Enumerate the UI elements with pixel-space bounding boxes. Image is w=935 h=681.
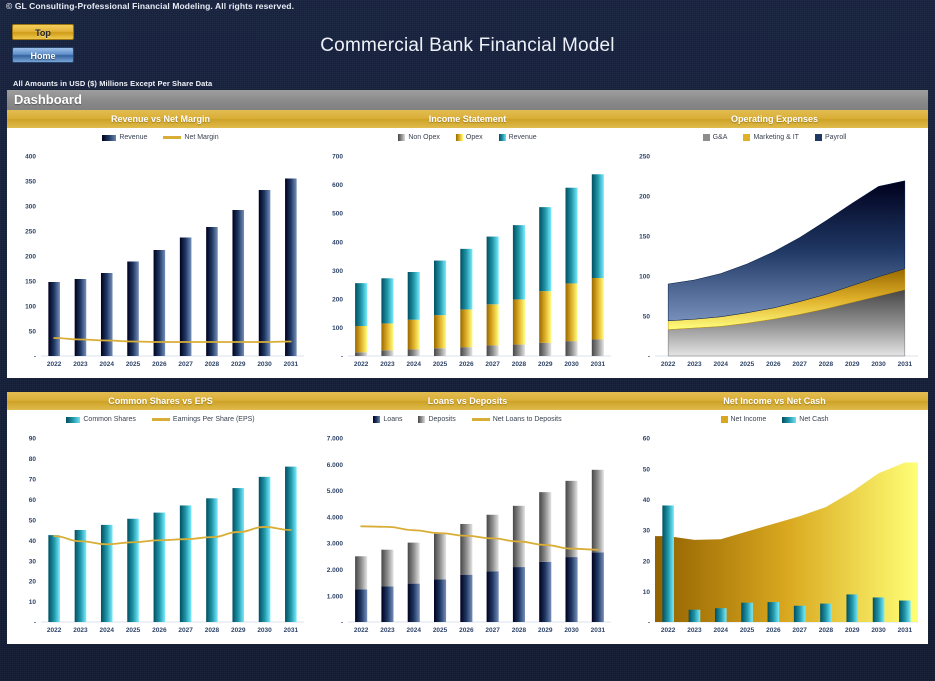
chart-net-income-net-cash[interactable]: -102030405060202220232024202520262027202… (621, 410, 928, 644)
svg-text:2031: 2031 (284, 627, 299, 634)
svg-text:2029: 2029 (538, 361, 553, 368)
svg-text:2022: 2022 (47, 627, 62, 634)
svg-text:2030: 2030 (257, 627, 272, 634)
svg-text:30: 30 (643, 528, 651, 535)
svg-text:2025: 2025 (740, 361, 755, 368)
legend-item[interactable]: Loans (373, 416, 402, 423)
svg-text:2028: 2028 (512, 627, 527, 634)
svg-text:2023: 2023 (687, 361, 702, 368)
svg-text:2.000: 2.000 (327, 567, 344, 574)
svg-text:2026: 2026 (459, 627, 474, 634)
legend-bar-swatch (373, 416, 380, 423)
legend-area-swatch (815, 134, 822, 141)
legend-label: Revenue (509, 134, 537, 141)
svg-text:2022: 2022 (354, 361, 369, 368)
svg-text:30: 30 (29, 558, 37, 565)
legend-item[interactable]: Net Income (721, 416, 767, 423)
svg-text:2026: 2026 (766, 361, 781, 368)
svg-text:2024: 2024 (714, 627, 729, 634)
svg-text:350: 350 (25, 179, 36, 186)
svg-text:150: 150 (639, 234, 650, 241)
chart-title-income-statement: Income Statement (314, 110, 621, 128)
legend-label: Net Cash (799, 416, 828, 423)
svg-text:2022: 2022 (661, 361, 676, 368)
legend-item[interactable]: Revenue (499, 134, 537, 141)
svg-text:40: 40 (29, 538, 37, 545)
svg-text:2025: 2025 (126, 361, 141, 368)
chart-title-net-income-net-cash: Net Income vs Net Cash (621, 392, 928, 410)
svg-text:7.000: 7.000 (327, 436, 344, 443)
svg-text:2027: 2027 (485, 361, 500, 368)
svg-text:2027: 2027 (792, 361, 807, 368)
legend-item[interactable]: G&A (703, 134, 728, 141)
dashboard-label: Dashboard (14, 92, 82, 107)
svg-text:-: - (341, 354, 343, 361)
chart-legend: LoansDepositsNet Loans to Deposits (314, 416, 621, 423)
legend-area-swatch (721, 416, 728, 423)
svg-text:2025: 2025 (740, 627, 755, 634)
svg-text:300: 300 (332, 268, 343, 275)
legend-bar-swatch (456, 134, 463, 141)
chart-legend: Net IncomeNet Cash (621, 416, 928, 423)
svg-text:2023: 2023 (687, 627, 702, 634)
svg-text:150: 150 (25, 279, 36, 286)
svg-text:2031: 2031 (898, 627, 913, 634)
chart-legend: RevenueNet Margin (7, 134, 314, 141)
legend-item[interactable]: Net Loans to Deposits (472, 416, 562, 423)
legend-bar-swatch (398, 134, 405, 141)
legend-label: Net Margin (184, 134, 218, 141)
chart-loans-deposits[interactable]: -1.0002.0003.0004.0005.0006.0007.0002022… (314, 410, 621, 644)
svg-text:2023: 2023 (73, 361, 88, 368)
svg-text:5.000: 5.000 (327, 488, 344, 495)
chart-title-revenue-net-margin: Revenue vs Net Margin (7, 110, 314, 128)
legend-label: Net Income (731, 416, 767, 423)
svg-text:600: 600 (332, 182, 343, 189)
legend-label: Deposits (428, 416, 455, 423)
svg-text:20: 20 (29, 579, 37, 586)
svg-text:2022: 2022 (47, 361, 62, 368)
legend-label: Loans (383, 416, 402, 423)
svg-text:2023: 2023 (73, 627, 88, 634)
svg-text:50: 50 (29, 517, 37, 524)
svg-text:2024: 2024 (100, 627, 115, 634)
legend-label: Common Shares (83, 416, 136, 423)
svg-text:60: 60 (29, 497, 37, 504)
chart-title-loans-deposits: Loans vs Deposits (314, 392, 621, 410)
svg-text:2030: 2030 (257, 361, 272, 368)
legend-bar-swatch (499, 134, 506, 141)
svg-text:2028: 2028 (819, 361, 834, 368)
chart-legend: G&AMarketing & ITPayroll (621, 134, 928, 141)
svg-text:2026: 2026 (459, 361, 474, 368)
svg-text:2029: 2029 (231, 627, 246, 634)
svg-text:2024: 2024 (100, 361, 115, 368)
chart-income-statement[interactable]: -100200300400500600700202220232024202520… (314, 128, 621, 378)
chart-revenue-net-margin[interactable]: -501001502002503003504002022202320242025… (7, 128, 314, 378)
svg-text:20: 20 (643, 558, 651, 565)
svg-text:2028: 2028 (819, 627, 834, 634)
svg-text:4.000: 4.000 (327, 514, 344, 521)
svg-text:-: - (34, 354, 36, 361)
svg-text:2026: 2026 (152, 627, 167, 634)
svg-text:70: 70 (29, 476, 37, 483)
svg-text:100: 100 (639, 274, 650, 281)
svg-text:300: 300 (25, 204, 36, 211)
svg-text:2025: 2025 (433, 361, 448, 368)
chart-title-operating-expenses: Operating Expenses (621, 110, 928, 128)
svg-text:2022: 2022 (661, 627, 676, 634)
svg-text:2030: 2030 (564, 627, 579, 634)
svg-text:2023: 2023 (380, 361, 395, 368)
svg-text:2025: 2025 (126, 627, 141, 634)
svg-text:2027: 2027 (792, 627, 807, 634)
svg-text:2024: 2024 (407, 361, 422, 368)
svg-text:100: 100 (25, 304, 36, 311)
svg-text:40: 40 (643, 497, 651, 504)
svg-text:400: 400 (25, 154, 36, 161)
chart-operating-expenses[interactable]: -501001502002502022202320242025202620272… (621, 128, 928, 378)
svg-text:2027: 2027 (485, 627, 500, 634)
svg-text:60: 60 (643, 436, 651, 443)
svg-text:2027: 2027 (178, 361, 193, 368)
svg-text:2031: 2031 (591, 361, 606, 368)
svg-text:2025: 2025 (433, 627, 448, 634)
svg-text:400: 400 (332, 239, 343, 246)
legend-item[interactable]: Net Cash (782, 416, 828, 423)
svg-text:50: 50 (29, 329, 37, 336)
chart-title-common-shares-eps: Common Shares vs EPS (7, 392, 314, 410)
svg-text:700: 700 (332, 154, 343, 161)
svg-text:90: 90 (29, 436, 37, 443)
chart-row-top-header: Revenue vs Net Margin Income Statement O… (7, 110, 928, 128)
svg-text:10: 10 (643, 589, 651, 596)
copyright-notice: © GL Consulting-Professional Financial M… (6, 1, 294, 11)
svg-text:6.000: 6.000 (327, 462, 344, 469)
legend-bar-swatch (418, 416, 425, 423)
svg-text:2028: 2028 (205, 361, 220, 368)
svg-text:80: 80 (29, 456, 37, 463)
svg-text:2026: 2026 (766, 627, 781, 634)
svg-text:2029: 2029 (845, 361, 860, 368)
svg-text:2024: 2024 (714, 361, 729, 368)
chart-common-shares-eps[interactable]: -102030405060708090202220232024202520262… (7, 410, 314, 644)
legend-item[interactable]: Marketing & IT (743, 134, 799, 141)
legend-label: Payroll (825, 134, 846, 141)
units-note: All Amounts in USD ($) Millions Except P… (13, 79, 212, 88)
legend-label: Earnings Per Share (EPS) (173, 416, 255, 423)
legend-line-swatch (152, 418, 170, 421)
svg-text:2023: 2023 (380, 627, 395, 634)
svg-text:1.000: 1.000 (327, 593, 344, 600)
svg-text:2031: 2031 (898, 361, 913, 368)
legend-item[interactable]: Deposits (418, 416, 455, 423)
svg-text:-: - (34, 620, 36, 627)
svg-text:2028: 2028 (512, 361, 527, 368)
dashboard-window: © GL Consulting-Professional Financial M… (0, 0, 935, 681)
legend-item[interactable]: Revenue (102, 134, 147, 141)
svg-text:-: - (341, 620, 343, 627)
svg-text:2030: 2030 (871, 627, 886, 634)
svg-text:3.000: 3.000 (327, 541, 344, 548)
page-title: Commercial Bank Financial Model (0, 35, 935, 57)
svg-text:50: 50 (643, 314, 651, 321)
legend-line-swatch (472, 418, 490, 421)
svg-text:50: 50 (643, 466, 651, 473)
svg-text:2028: 2028 (205, 627, 220, 634)
svg-text:500: 500 (332, 211, 343, 218)
svg-text:250: 250 (639, 154, 650, 161)
svg-text:2030: 2030 (871, 361, 886, 368)
svg-text:100: 100 (332, 325, 343, 332)
chart-row-top-charts: -501001502002503003504002022202320242025… (7, 128, 928, 378)
legend-item[interactable]: Opex (456, 134, 483, 141)
legend-label: Marketing & IT (753, 134, 799, 141)
svg-text:10: 10 (29, 599, 37, 606)
legend-area-swatch (743, 134, 750, 141)
legend-area-swatch (703, 134, 710, 141)
legend-label: Net Loans to Deposits (493, 416, 562, 423)
chart-row-top: Revenue vs Net Margin Income Statement O… (7, 110, 928, 378)
legend-item[interactable]: Payroll (815, 134, 846, 141)
legend-bar-swatch (102, 135, 116, 141)
chart-legend: Common SharesEarnings Per Share (EPS) (7, 416, 314, 423)
svg-text:2029: 2029 (845, 627, 860, 634)
legend-bar-swatch (782, 417, 796, 423)
svg-text:2024: 2024 (407, 627, 422, 634)
svg-text:-: - (648, 354, 650, 361)
svg-text:2027: 2027 (178, 627, 193, 634)
svg-text:200: 200 (332, 296, 343, 303)
legend-label: Non Opex (408, 134, 440, 141)
svg-text:2031: 2031 (284, 361, 299, 368)
legend-label: G&A (713, 134, 728, 141)
legend-item[interactable]: Common Shares (66, 416, 136, 423)
legend-item[interactable]: Net Margin (163, 134, 218, 141)
chart-legend: Non OpexOpexRevenue (314, 134, 621, 141)
svg-text:200: 200 (639, 194, 650, 201)
svg-text:2031: 2031 (591, 627, 606, 634)
svg-text:2029: 2029 (231, 361, 246, 368)
legend-label: Opex (466, 134, 483, 141)
legend-item[interactable]: Earnings Per Share (EPS) (152, 416, 255, 423)
svg-text:2030: 2030 (564, 361, 579, 368)
legend-line-swatch (163, 136, 181, 139)
svg-text:200: 200 (25, 254, 36, 261)
svg-text:250: 250 (25, 229, 36, 236)
dashboard-title-bar: Dashboard (7, 90, 928, 110)
svg-text:2026: 2026 (152, 361, 167, 368)
legend-label: Revenue (119, 134, 147, 141)
legend-bar-swatch (66, 417, 80, 423)
chart-row-bottom-charts: -102030405060708090202220232024202520262… (7, 410, 928, 644)
chart-row-bottom-header: Common Shares vs EPS Loans vs Deposits N… (7, 392, 928, 410)
svg-text:-: - (648, 620, 650, 627)
svg-text:2022: 2022 (354, 627, 369, 634)
legend-item[interactable]: Non Opex (398, 134, 440, 141)
svg-text:2029: 2029 (538, 627, 553, 634)
chart-row-bottom: Common Shares vs EPS Loans vs Deposits N… (7, 392, 928, 644)
